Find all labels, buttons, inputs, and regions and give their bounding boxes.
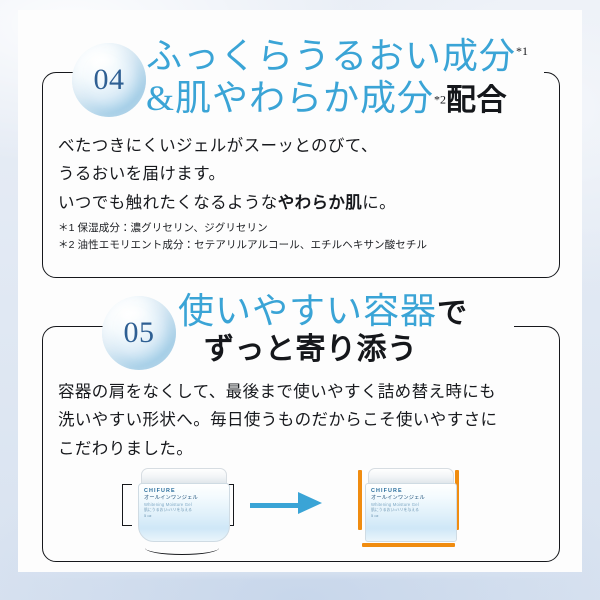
heading-ref-1-04: *1 <box>516 44 528 58</box>
body-line: 容器の肩をなくして、最後まで使いやすく詰め替え時にも <box>58 378 538 406</box>
body-line-text: いつでも触れたくなるような <box>58 193 278 212</box>
body-emphasis: やわらか肌 <box>278 193 363 212</box>
section-badge-04: 04 <box>72 43 146 117</box>
section-footnotes-04: ＊1 保湿成分：濃グリセリン、ジグリセリン ＊2 油性エモリエント成分：セテアリ… <box>58 220 538 254</box>
highlight-mark-left <box>358 470 362 530</box>
section-body-05: 容器の肩をなくして、最後まで使いやすく詰め替え時にも 洗いやすい形状へ。毎日使う… <box>58 378 538 463</box>
section-heading-05: 使いやすい容器で ずっと寄り添う <box>178 291 468 368</box>
heading-line-2-text-04: &肌やわらか成分 <box>146 78 434 118</box>
section-heading-04: ふっくらうるおい成分*1 &肌やわらか成分*2配合 <box>146 36 528 120</box>
heading-line-2-05: ずっと寄り添う <box>178 333 468 368</box>
footnote-1: ＊1 保湿成分：濃グリセリン、ジグリセリン <box>58 220 538 237</box>
content-sheet: 04 ふっくらうるおい成分*1 &肌やわらか成分*2配合 べたつきにくいジェルが… <box>18 10 582 572</box>
body-line-tail: に。 <box>362 193 396 212</box>
body-line: いつでも触れたくなるようなやわらか肌に。 <box>58 189 528 217</box>
jar-volume: 5 oz <box>371 513 447 518</box>
body-line: べたつきにくいジェルがスーッとのびて、 <box>58 132 528 160</box>
heading-line-1-05: 使いやすい容器で <box>178 291 468 333</box>
heading-ref-2-04: *2 <box>434 92 446 106</box>
before-jar: CHIFURE オールインワンジェル Whitening Moisture Ge… <box>137 468 229 540</box>
body-line: 洗いやすい形状へ。毎日使うものだからこそ使いやすさに <box>58 406 538 434</box>
heading-line-1-04: ふっくらうるおい成分*1 <box>146 36 528 78</box>
footnote-2: ＊2 油性エモリエント成分：セテアリルアルコール、エチルヘキサン酸セチル <box>58 237 538 254</box>
jar-label: CHIFURE オールインワンジェル Whitening Moisture Ge… <box>371 488 447 519</box>
shoulder-curve-mark <box>145 541 219 555</box>
section-badge-number-04: 04 <box>94 63 125 97</box>
bracket-mark-left <box>122 484 132 526</box>
body-line: うるおいを届けます。 <box>58 160 528 188</box>
heading-line-2-04: &肌やわらか成分*2配合 <box>146 78 528 120</box>
heading-line-1-text-05: 使いやすい容器 <box>178 291 437 331</box>
section-badge-number-05: 05 <box>124 316 155 350</box>
highlight-mark-bottom <box>362 543 455 547</box>
heading-line-1-text-04: ふっくらうるおい成分 <box>146 36 516 76</box>
section-body-04: べたつきにくいジェルがスーッとのびて、 うるおいを届けます。 いつでも触れたくな… <box>58 132 528 217</box>
container-comparison: CHIFURE オールインワンジェル Whitening Moisture Ge… <box>78 462 538 552</box>
product-feature-page: 04 ふっくらうるおい成分*1 &肌やわらか成分*2配合 べたつきにくいジェルが… <box>0 0 600 600</box>
jar-label: CHIFURE オールインワンジェル Whitening Moisture Ge… <box>144 488 220 519</box>
arrow-head <box>298 492 322 514</box>
section-badge-05: 05 <box>102 296 176 370</box>
heading-line-2-suffix-04: 配合 <box>446 84 507 117</box>
heading-line-1-suffix-05: で <box>437 297 468 330</box>
body-line: こだわりました。 <box>58 435 538 463</box>
arrow-right-icon <box>250 492 326 514</box>
before-jar-group: CHIFURE オールインワンジェル Whitening Moisture Ge… <box>128 468 238 550</box>
jar-product-jp: オールインワンジェル <box>144 495 220 502</box>
jar-product-jp: オールインワンジェル <box>371 495 447 502</box>
after-jar: CHIFURE オールインワンジェル Whitening Moisture Ge… <box>364 468 456 540</box>
jar-volume: 5 oz <box>144 513 220 518</box>
after-jar-group: CHIFURE オールインワンジェル Whitening Moisture Ge… <box>356 464 466 550</box>
